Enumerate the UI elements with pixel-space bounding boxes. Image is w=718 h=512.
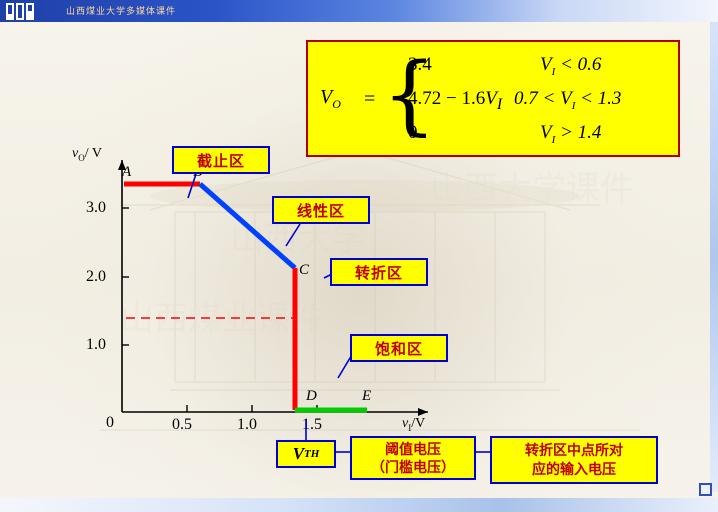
callout-cutoff[interactable]: 截止区	[172, 146, 270, 174]
threshold-note-line1: 阈值电压	[385, 440, 441, 458]
threshold-note-line2: （门槛电压）	[371, 458, 455, 476]
midpoint-note-line2: 应的输入电压	[532, 460, 616, 479]
midpoint-note-box[interactable]: 转折区中点所对 应的输入电压	[490, 436, 658, 484]
threshold-note-box[interactable]: 阈值电压 （门槛电压）	[350, 436, 476, 480]
callout-saturation[interactable]: 饱和区	[350, 334, 448, 362]
callout-linear[interactable]: 线性区	[272, 196, 370, 224]
vth-box[interactable]: VTH	[276, 440, 336, 468]
midpoint-note-line1: 转折区中点所对	[525, 441, 623, 460]
vth-sub: TH	[304, 448, 319, 460]
callout-turning[interactable]: 转折区	[330, 258, 428, 286]
vth-label: V	[293, 444, 304, 464]
